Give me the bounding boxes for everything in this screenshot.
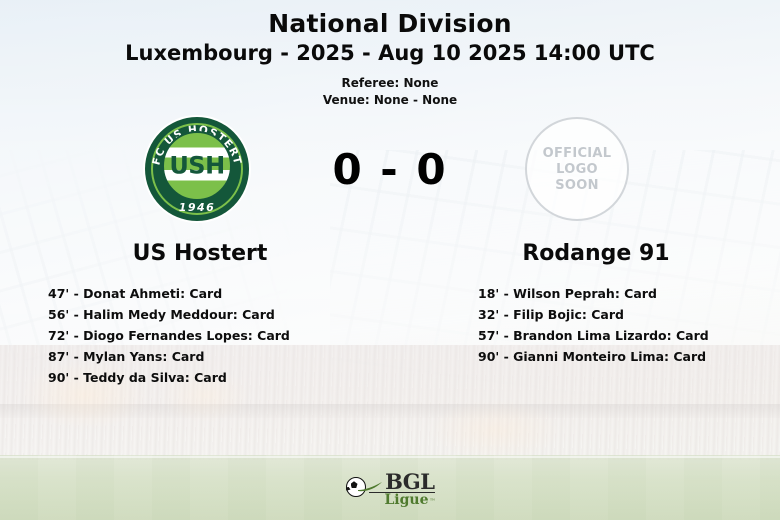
event-item: 18' - Wilson Peprah: Card xyxy=(478,283,780,304)
referee-line: Referee: None xyxy=(0,75,780,92)
event-item: 57' - Brandon Lima Lizardo: Card xyxy=(478,325,780,346)
event-item: 90' - Gianni Monteiro Lima: Card xyxy=(478,346,780,367)
match-events: 47' - Donat Ahmeti: Card 56' - Halim Med… xyxy=(0,283,780,403)
soccer-ball-icon xyxy=(346,477,366,497)
crest-founded-year: 1946 xyxy=(145,201,249,214)
crest-monogram: USH xyxy=(164,152,230,180)
event-item: 47' - Donat Ahmeti: Card xyxy=(48,283,378,304)
event-item: 87' - Mylan Yans: Card xyxy=(48,346,378,367)
trademark-mark: ™ xyxy=(430,498,436,505)
placeholder-line-2: LOGO xyxy=(556,163,598,176)
competition-title: National Division xyxy=(0,8,780,39)
placeholder-logo-icon: OFFICIAL LOGO SOON xyxy=(525,117,629,221)
league-logo-primary: BGL xyxy=(385,472,434,491)
home-team-crest: FC US HOSTERT USH 1946 xyxy=(145,117,255,227)
away-events-list: 18' - Wilson Peprah: Card 32' - Filip Bo… xyxy=(478,283,780,367)
home-team-name: US Hostert xyxy=(50,241,350,266)
placeholder-line-3: SOON xyxy=(555,179,599,192)
match-subtitle: Luxembourg - 2025 - Aug 10 2025 14:00 UT… xyxy=(0,40,780,67)
crest-score-row: FC US HOSTERT USH 1946 0 - 0 OFFICIAL LO… xyxy=(0,117,780,237)
league-logo: BGL Ligue ™ xyxy=(0,472,780,509)
match-meta: Referee: None Venue: None - None xyxy=(0,75,780,110)
league-logo-secondary: Ligue xyxy=(384,493,434,508)
ush-crest-icon: FC US HOSTERT USH 1946 xyxy=(145,117,249,221)
event-item: 90' - Teddy da Silva: Card xyxy=(48,367,378,388)
scoreline: 0 - 0 xyxy=(280,145,500,194)
placeholder-line-1: OFFICIAL xyxy=(543,147,612,160)
match-scoreboard: National Division Luxembourg - 2025 - Au… xyxy=(0,0,780,520)
home-events-list: 47' - Donat Ahmeti: Card 56' - Halim Med… xyxy=(48,283,378,388)
away-team-crest: OFFICIAL LOGO SOON xyxy=(525,117,635,227)
crest-inner-disc: USH xyxy=(162,131,232,201)
event-item: 72' - Diogo Fernandes Lopes: Card xyxy=(48,325,378,346)
venue-line: Venue: None - None xyxy=(0,92,780,109)
match-header: National Division Luxembourg - 2025 - Au… xyxy=(0,0,780,109)
away-team-name: Rodange 91 xyxy=(446,241,746,266)
team-names-row: US Hostert Rodange 91 xyxy=(0,241,780,273)
event-item: 32' - Filip Bojic: Card xyxy=(478,304,780,325)
event-item: 56' - Halim Medy Meddour: Card xyxy=(48,304,378,325)
